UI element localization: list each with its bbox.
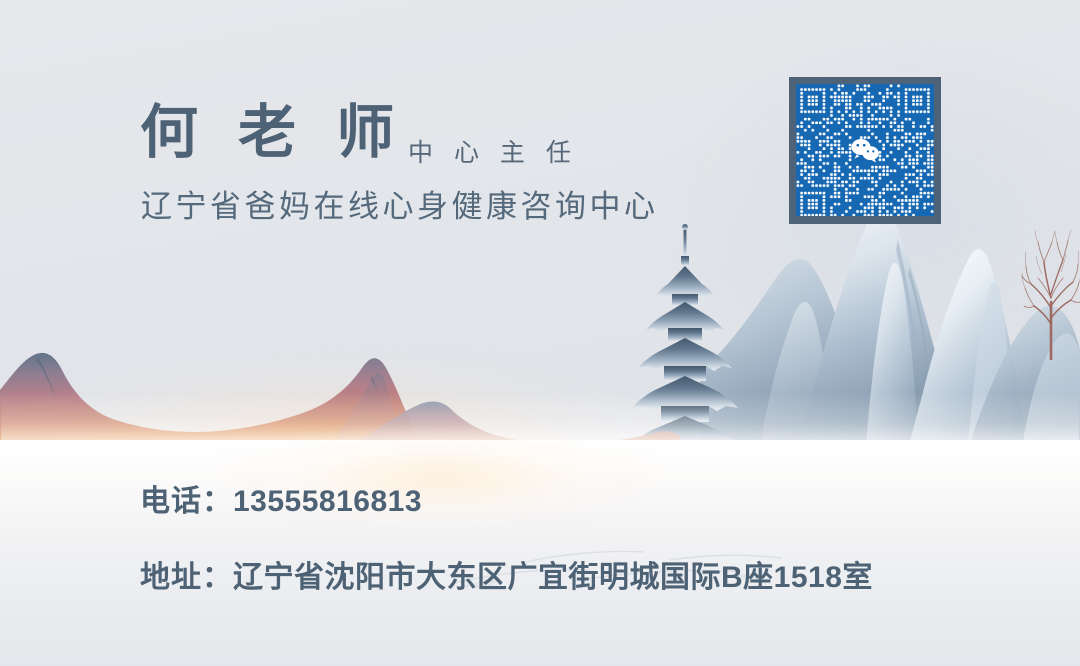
- qr-field[interactable]: [796, 84, 934, 216]
- warm-haze: [0, 300, 760, 560]
- water-plate: [0, 440, 1080, 666]
- phone-line: 电话：13555816813: [140, 484, 422, 520]
- pagoda-silhouette: [616, 222, 756, 448]
- wechat-logo: [850, 137, 880, 163]
- organization-name: 辽宁省爸妈在线心身健康咨询中心: [141, 188, 659, 227]
- wechat-qr-code[interactable]: [789, 77, 941, 224]
- lower-right-ridges: [840, 350, 1080, 580]
- phone-value: 13555816813: [233, 485, 422, 518]
- phone-label: 电话：: [140, 485, 233, 518]
- bare-tree: [1018, 228, 1080, 360]
- person-name: 何 老 师: [140, 104, 406, 162]
- person-role: 中 心 主 任: [408, 141, 578, 166]
- address-line: 地址：辽宁省沈阳市大东区广宜街明城国际B座1518室: [140, 560, 873, 596]
- business-card: 何 老 师 中 心 主 任 辽宁省爸妈在线心身健康咨询中心 电话：1355581…: [0, 0, 1080, 666]
- address-label: 地址：: [140, 561, 233, 594]
- mist-band: [0, 392, 1080, 462]
- address-value: 辽宁省沈阳市大东区广宜街明城国际B座1518室: [233, 561, 873, 594]
- left-warm-ridge: [0, 330, 740, 448]
- center-warm-ridge: [350, 372, 680, 448]
